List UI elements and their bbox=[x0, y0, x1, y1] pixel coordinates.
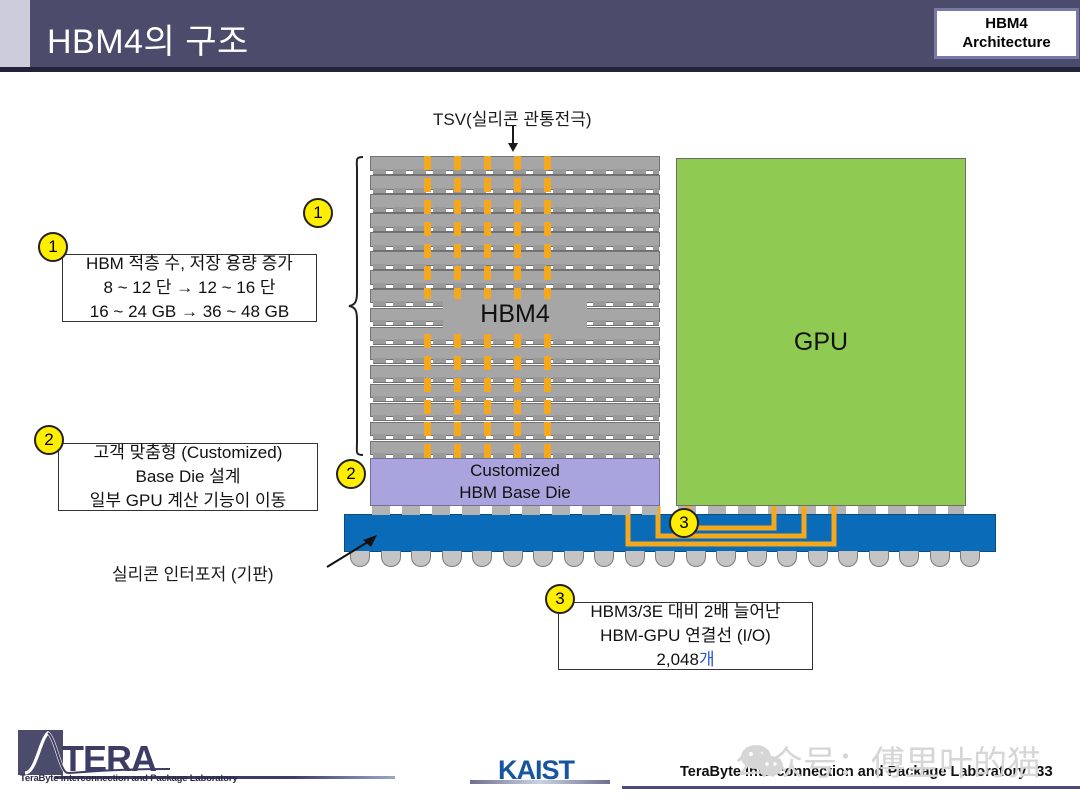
die-microbumps bbox=[373, 434, 659, 440]
hbm-die-layer bbox=[370, 175, 660, 190]
io-count-value: 2,048 bbox=[656, 650, 699, 669]
base-die-line2: HBM Base Die bbox=[459, 482, 570, 504]
callout-2-line-1: 고객 맞춤형 (Customized) bbox=[94, 441, 283, 465]
base-die-microbumps bbox=[372, 506, 658, 515]
hbm-die-layer bbox=[370, 346, 660, 361]
hbm-stack-label: HBM4 bbox=[370, 300, 660, 329]
callout-1-line-2: 8 ~ 12 단 → 12 ~ 16 단 bbox=[103, 276, 275, 300]
hbm-die-layer bbox=[370, 422, 660, 437]
die-microbumps bbox=[373, 245, 659, 251]
footer-bottom-rule bbox=[622, 786, 1080, 789]
kaist-logo: KAIST bbox=[498, 755, 574, 786]
marker-1: 1 bbox=[303, 198, 333, 228]
marker-1-callout: 1 bbox=[38, 232, 68, 262]
gpu-label: GPU bbox=[794, 328, 848, 357]
callout-1-line-1: HBM 적층 수, 저장 용량 증가 bbox=[86, 252, 293, 276]
customized-hbm-base-die: Customized HBM Base Die bbox=[370, 458, 660, 506]
page-title: HBM4의 구조 bbox=[47, 14, 249, 63]
marker-2-callout: 2 bbox=[34, 425, 64, 455]
marker-3: 3 bbox=[669, 508, 699, 538]
gpu-block: GPU bbox=[676, 158, 966, 506]
title-underline bbox=[0, 67, 1080, 72]
hbm-die-layer bbox=[370, 384, 660, 399]
hbm-die-layer bbox=[370, 365, 660, 380]
hbm-die-layer bbox=[370, 251, 660, 266]
die-microbumps bbox=[373, 226, 659, 232]
section-badge: HBM4 Architecture bbox=[934, 8, 1079, 59]
callout-2-line-3: 일부 GPU 계산 기능이 이동 bbox=[90, 489, 287, 513]
die-microbumps bbox=[373, 377, 659, 383]
tsv-arrow-icon bbox=[512, 126, 514, 146]
callout-box-1: HBM 적층 수, 저장 용량 증가 8 ~ 12 단 → 12 ~ 16 단 … bbox=[62, 254, 317, 322]
hbm-die-layer bbox=[370, 194, 660, 209]
die-microbumps bbox=[373, 188, 659, 194]
callout-3-line-2: HBM-GPU 연결선 (I/O) bbox=[600, 624, 771, 648]
callout-box-3: HBM3/3E 대비 2배 늘어난 HBM-GPU 연결선 (I/O) 2,04… bbox=[558, 602, 813, 670]
die-microbumps bbox=[373, 169, 659, 175]
die-microbumps bbox=[373, 283, 659, 289]
hbm-die-layer bbox=[370, 232, 660, 247]
die-microbumps bbox=[373, 264, 659, 270]
die-microbumps bbox=[373, 339, 659, 345]
callout-2-line-2: Base Die 설계 bbox=[136, 465, 241, 489]
base-die-line1: Customized bbox=[470, 460, 560, 482]
section-badge-line1: HBM4 bbox=[985, 15, 1028, 33]
hbm-die-layer bbox=[370, 213, 660, 228]
io-count-unit: 개 bbox=[699, 650, 715, 669]
stack-brace bbox=[348, 156, 364, 456]
callout-3-line-1: HBM3/3E 대비 2배 늘어난 bbox=[590, 600, 780, 624]
tera-logo-subtitle: TeraByte Interconnection and Package Lab… bbox=[20, 773, 237, 784]
interposer-caption: 실리콘 인터포저 (기판) bbox=[112, 560, 274, 585]
watermark-text: 公众号：傅里叶的猫 bbox=[735, 736, 1041, 785]
section-badge-line2: Architecture bbox=[962, 34, 1050, 52]
die-microbumps bbox=[373, 396, 659, 402]
marker-2: 2 bbox=[336, 459, 366, 489]
hbm-die-layer bbox=[370, 270, 660, 285]
die-microbumps bbox=[373, 415, 659, 421]
title-accent-strip bbox=[0, 0, 30, 67]
marker-3-callout: 3 bbox=[545, 584, 575, 614]
die-microbumps bbox=[373, 207, 659, 213]
hbm-die-layer bbox=[370, 441, 660, 456]
callout-1-line-3: 16 ~ 24 GB → 36 ~ 48 GB bbox=[90, 300, 289, 324]
hbm-die-layer bbox=[370, 156, 660, 171]
die-microbumps bbox=[373, 358, 659, 364]
hbm-die-layer bbox=[370, 403, 660, 418]
callout-3-line-3: 2,048개 bbox=[656, 648, 714, 672]
callout-box-2: 고객 맞춤형 (Customized) Base Die 설계 일부 GPU 계… bbox=[58, 443, 318, 511]
interposer-arrow-icon bbox=[325, 533, 379, 569]
